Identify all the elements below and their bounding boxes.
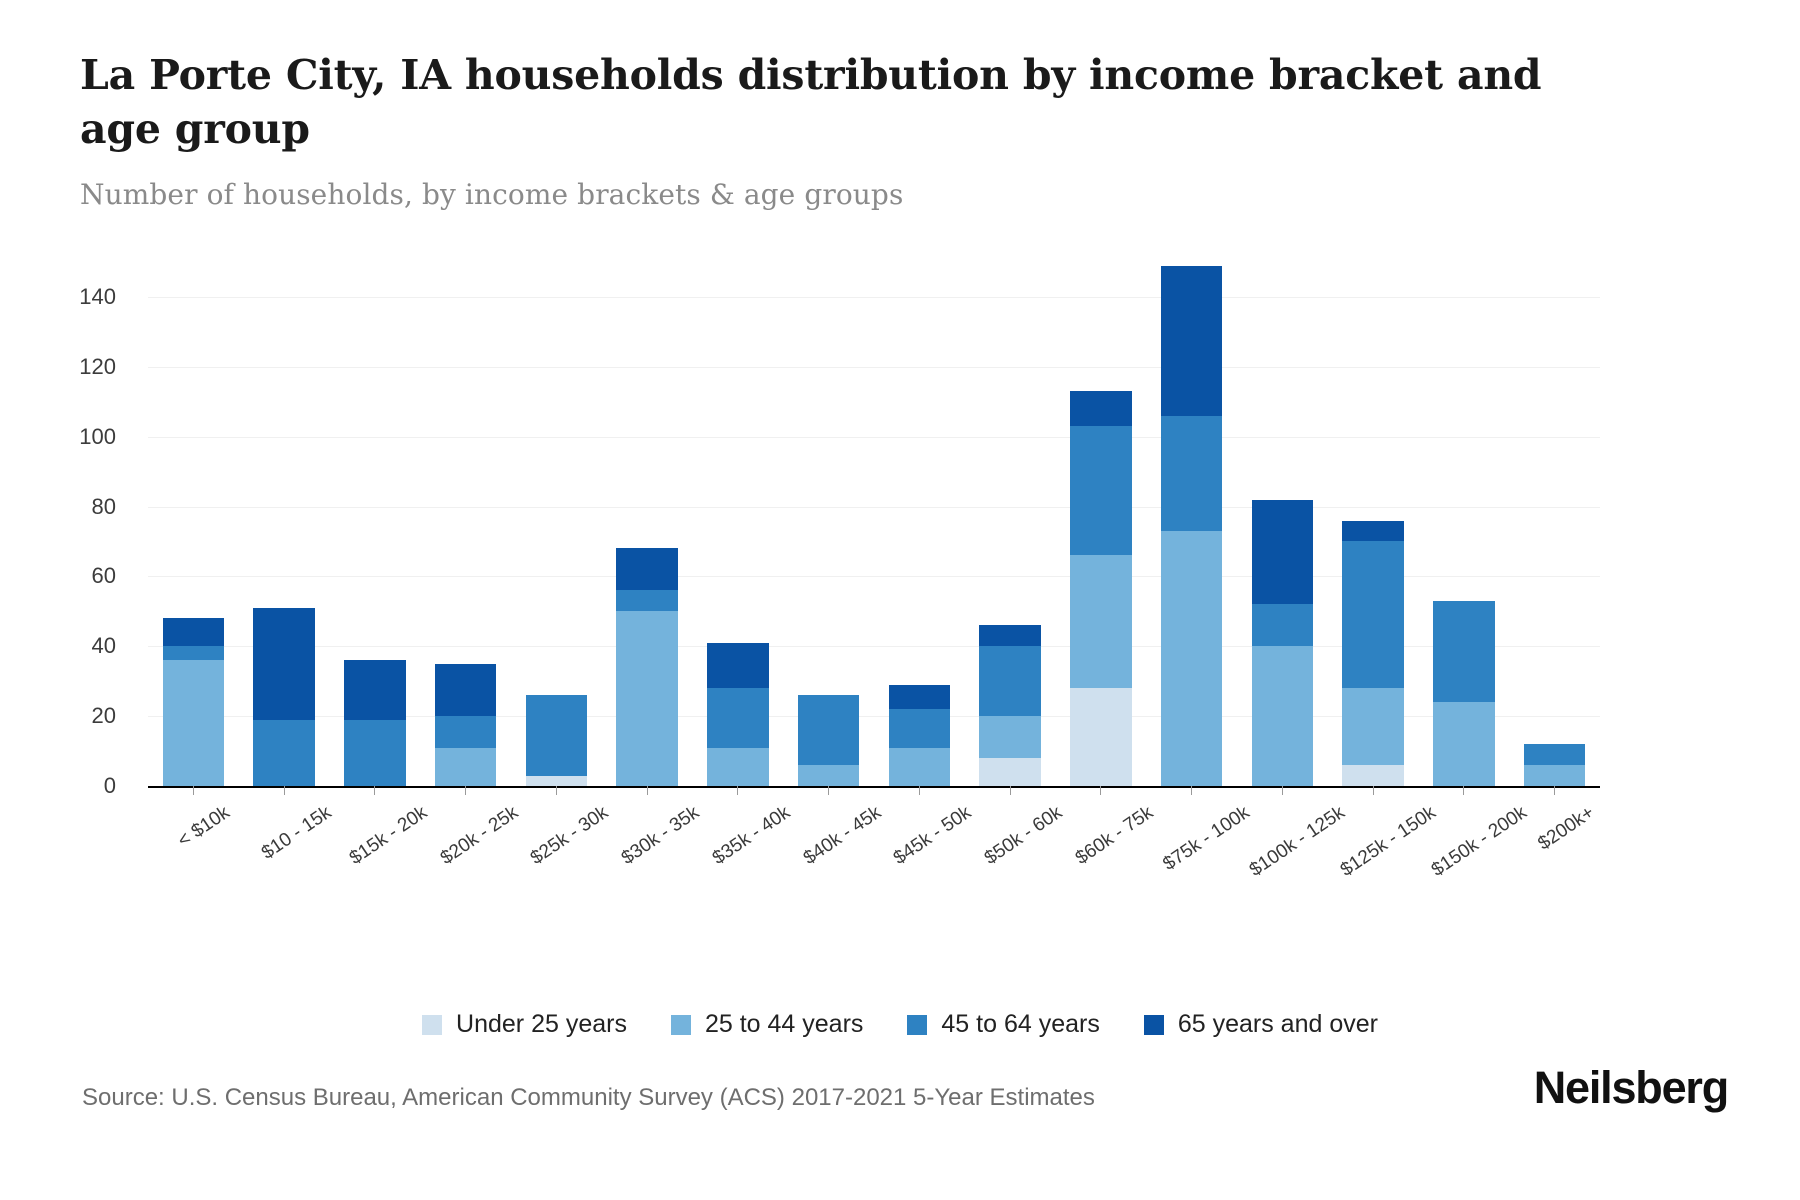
y-axis-tick-label: 40: [92, 633, 116, 659]
x-axis-tick: [874, 786, 965, 796]
bar-segment[interactable]: [253, 720, 315, 786]
x-axis-tick: [783, 786, 874, 796]
x-axis-label: $60k - 75k: [1056, 796, 1147, 906]
bar-segment[interactable]: [889, 709, 951, 747]
bar-segment[interactable]: [1161, 531, 1223, 786]
brand-logo: Neilsberg: [1534, 1062, 1728, 1114]
stacked-bar[interactable]: [707, 643, 769, 786]
stacked-bar[interactable]: [979, 625, 1041, 786]
x-axis-label-text: $45k - 50k: [890, 802, 976, 870]
legend-item[interactable]: 25 to 44 years: [671, 1010, 863, 1039]
bar-segment[interactable]: [1524, 765, 1586, 786]
legend-label: 45 to 64 years: [941, 1010, 1099, 1039]
source-note: Source: U.S. Census Bureau, American Com…: [82, 1084, 1095, 1112]
x-axis-label: $100k - 125k: [1237, 796, 1328, 906]
bar-segment[interactable]: [1524, 744, 1586, 765]
bar-segment[interactable]: [253, 608, 315, 720]
page-title: La Porte City, IA households distributio…: [80, 48, 1600, 156]
bar-segment[interactable]: [344, 660, 406, 719]
legend-swatch-icon: [907, 1015, 927, 1035]
x-axis-label-text: $25k - 30k: [527, 802, 613, 870]
bar-segment[interactable]: [616, 548, 678, 590]
bar-segment[interactable]: [707, 643, 769, 688]
bar-segment[interactable]: [979, 646, 1041, 716]
stacked-bar[interactable]: [435, 664, 497, 786]
x-axis-tick: [148, 786, 239, 796]
y-axis-tick-label: 0: [104, 773, 116, 799]
bar-group[interactable]: [511, 262, 602, 786]
x-axis-tick: [602, 786, 693, 796]
x-axis-label-text: $200k+: [1534, 802, 1598, 855]
bar-group[interactable]: [602, 262, 693, 786]
x-axis-tick: [239, 786, 330, 796]
bar-group[interactable]: [420, 262, 511, 786]
y-axis-tick-label: 100: [79, 424, 116, 450]
bar-segment[interactable]: [163, 618, 225, 646]
chart-header: La Porte City, IA households distributio…: [80, 48, 1680, 211]
x-axis-label: $75k - 100k: [1146, 796, 1237, 906]
bar-segment[interactable]: [1342, 688, 1404, 765]
legend-swatch-icon: [671, 1015, 691, 1035]
bar-segment[interactable]: [1161, 266, 1223, 416]
bar-group[interactable]: [1328, 262, 1419, 786]
bar-segment[interactable]: [1252, 604, 1314, 646]
x-axis-tick: [1146, 786, 1237, 796]
bar-segment[interactable]: [163, 660, 225, 786]
x-axis-label-text: < $10k: [174, 802, 234, 852]
x-axis-label-text: $60k - 75k: [1072, 802, 1158, 870]
stacked-bar[interactable]: [1433, 601, 1495, 786]
y-axis-tick-label: 120: [79, 354, 116, 380]
bar-series-container: [148, 262, 1600, 786]
legend-label: 25 to 44 years: [705, 1010, 863, 1039]
bar-group[interactable]: [1419, 262, 1510, 786]
bar-segment[interactable]: [1433, 702, 1495, 786]
bar-segment[interactable]: [979, 758, 1041, 786]
stacked-bar[interactable]: [798, 695, 860, 786]
x-axis-ticks: [148, 786, 1600, 796]
x-axis-label-text: $20k - 25k: [436, 802, 522, 870]
bar-group[interactable]: [330, 262, 421, 786]
x-axis-tick: [1328, 786, 1419, 796]
x-axis-label: $150k - 200k: [1419, 796, 1510, 906]
x-axis-label: $25k - 30k: [511, 796, 602, 906]
bar-group[interactable]: [1509, 262, 1600, 786]
x-axis-label: $40k - 45k: [783, 796, 874, 906]
x-axis-label: $45k - 50k: [874, 796, 965, 906]
x-axis-tick: [1237, 786, 1328, 796]
x-axis-label: $20k - 25k: [420, 796, 511, 906]
legend-item[interactable]: Under 25 years: [422, 1010, 627, 1039]
legend-item[interactable]: 45 to 64 years: [907, 1010, 1099, 1039]
legend-label: Under 25 years: [456, 1010, 627, 1039]
x-axis-labels: < $10k$10 - 15k$15k - 20k$20k - 25k$25k …: [148, 796, 1600, 906]
bar-segment[interactable]: [889, 748, 951, 786]
bar-segment[interactable]: [1433, 601, 1495, 702]
x-axis-tick: [965, 786, 1056, 796]
x-axis-tick: [1509, 786, 1600, 796]
x-axis-label: $200k+: [1509, 796, 1600, 906]
stacked-bar[interactable]: [1070, 391, 1132, 786]
x-axis-label: $10 - 15k: [239, 796, 330, 906]
bar-segment[interactable]: [1252, 500, 1314, 605]
bar-segment[interactable]: [435, 748, 497, 786]
y-axis-tick-label: 80: [92, 494, 116, 520]
x-axis-label-text: $30k - 35k: [618, 802, 704, 870]
bar-segment[interactable]: [1070, 426, 1132, 555]
bar-group[interactable]: [693, 262, 784, 786]
x-axis-label-text: $35k - 40k: [709, 802, 795, 870]
bar-group[interactable]: [1146, 262, 1237, 786]
bar-segment[interactable]: [1342, 541, 1404, 688]
x-axis-label: $50k - 60k: [965, 796, 1056, 906]
x-axis-label-text: $50k - 60k: [981, 802, 1067, 870]
bar-segment[interactable]: [889, 685, 951, 709]
bar-segment[interactable]: [616, 611, 678, 786]
bar-group[interactable]: [965, 262, 1056, 786]
bar-segment[interactable]: [1070, 391, 1132, 426]
bar-segment[interactable]: [979, 625, 1041, 646]
legend-item[interactable]: 65 years and over: [1144, 1010, 1378, 1039]
bar-segment[interactable]: [1342, 765, 1404, 786]
bar-segment[interactable]: [979, 716, 1041, 758]
stacked-bar[interactable]: [253, 608, 315, 786]
bar-group[interactable]: [874, 262, 965, 786]
stacked-bar[interactable]: [889, 685, 951, 786]
x-axis-label: $30k - 35k: [602, 796, 693, 906]
bar-segment[interactable]: [707, 748, 769, 786]
bar-segment[interactable]: [1070, 555, 1132, 688]
y-axis-tick-label: 60: [92, 563, 116, 589]
bar-segment[interactable]: [526, 695, 588, 775]
x-axis-label: $35k - 40k: [693, 796, 784, 906]
bar-segment[interactable]: [435, 716, 497, 747]
bar-segment[interactable]: [798, 765, 860, 786]
x-axis-tick: [1056, 786, 1147, 796]
stacked-bar[interactable]: [1342, 521, 1404, 786]
bar-segment[interactable]: [1252, 646, 1314, 786]
stacked-bar[interactable]: [1524, 744, 1586, 786]
x-axis-label: $125k - 150k: [1328, 796, 1419, 906]
x-axis-tick: [511, 786, 602, 796]
bar-segment[interactable]: [344, 720, 406, 786]
bar-segment[interactable]: [707, 688, 769, 747]
x-axis-tick: [330, 786, 421, 796]
bar-segment[interactable]: [435, 664, 497, 716]
chart-legend: Under 25 years25 to 44 years45 to 64 yea…: [0, 1010, 1800, 1039]
legend-swatch-icon: [422, 1015, 442, 1035]
x-axis-label: < $10k: [148, 796, 239, 906]
legend-swatch-icon: [1144, 1015, 1164, 1035]
chart-page: La Porte City, IA households distributio…: [0, 0, 1800, 1200]
x-axis-tick: [1419, 786, 1510, 796]
x-axis-label-text: $40k - 45k: [799, 802, 885, 870]
stacked-bar[interactable]: [526, 695, 588, 786]
y-axis-labels: 020406080100120140: [0, 262, 132, 786]
bar-segment[interactable]: [163, 646, 225, 660]
y-axis-tick-label: 140: [79, 284, 116, 310]
stacked-bar[interactable]: [1252, 500, 1314, 786]
x-axis-label-text: $10 - 15k: [258, 802, 336, 865]
stacked-bar[interactable]: [163, 618, 225, 786]
y-axis-tick-label: 20: [92, 703, 116, 729]
bar-segment[interactable]: [526, 776, 588, 786]
stacked-bar[interactable]: [616, 548, 678, 786]
bar-group[interactable]: [1056, 262, 1147, 786]
legend-label: 65 years and over: [1178, 1010, 1378, 1039]
bar-segment[interactable]: [1342, 521, 1404, 542]
plot-area: [148, 262, 1600, 786]
x-axis-label: $15k - 20k: [330, 796, 421, 906]
bar-group[interactable]: [783, 262, 874, 786]
bar-segment[interactable]: [1070, 688, 1132, 786]
bar-segment[interactable]: [616, 590, 678, 611]
x-axis-tick: [420, 786, 511, 796]
bar-group[interactable]: [1237, 262, 1328, 786]
stacked-bar[interactable]: [344, 660, 406, 786]
bar-group[interactable]: [239, 262, 330, 786]
bar-group[interactable]: [148, 262, 239, 786]
chart-subtitle: Number of households, by income brackets…: [80, 178, 1680, 211]
bar-segment[interactable]: [798, 695, 860, 765]
x-axis-label-text: $15k - 20k: [346, 802, 432, 870]
bar-segment[interactable]: [1161, 416, 1223, 531]
stacked-bar[interactable]: [1161, 266, 1223, 786]
x-axis-tick: [693, 786, 784, 796]
